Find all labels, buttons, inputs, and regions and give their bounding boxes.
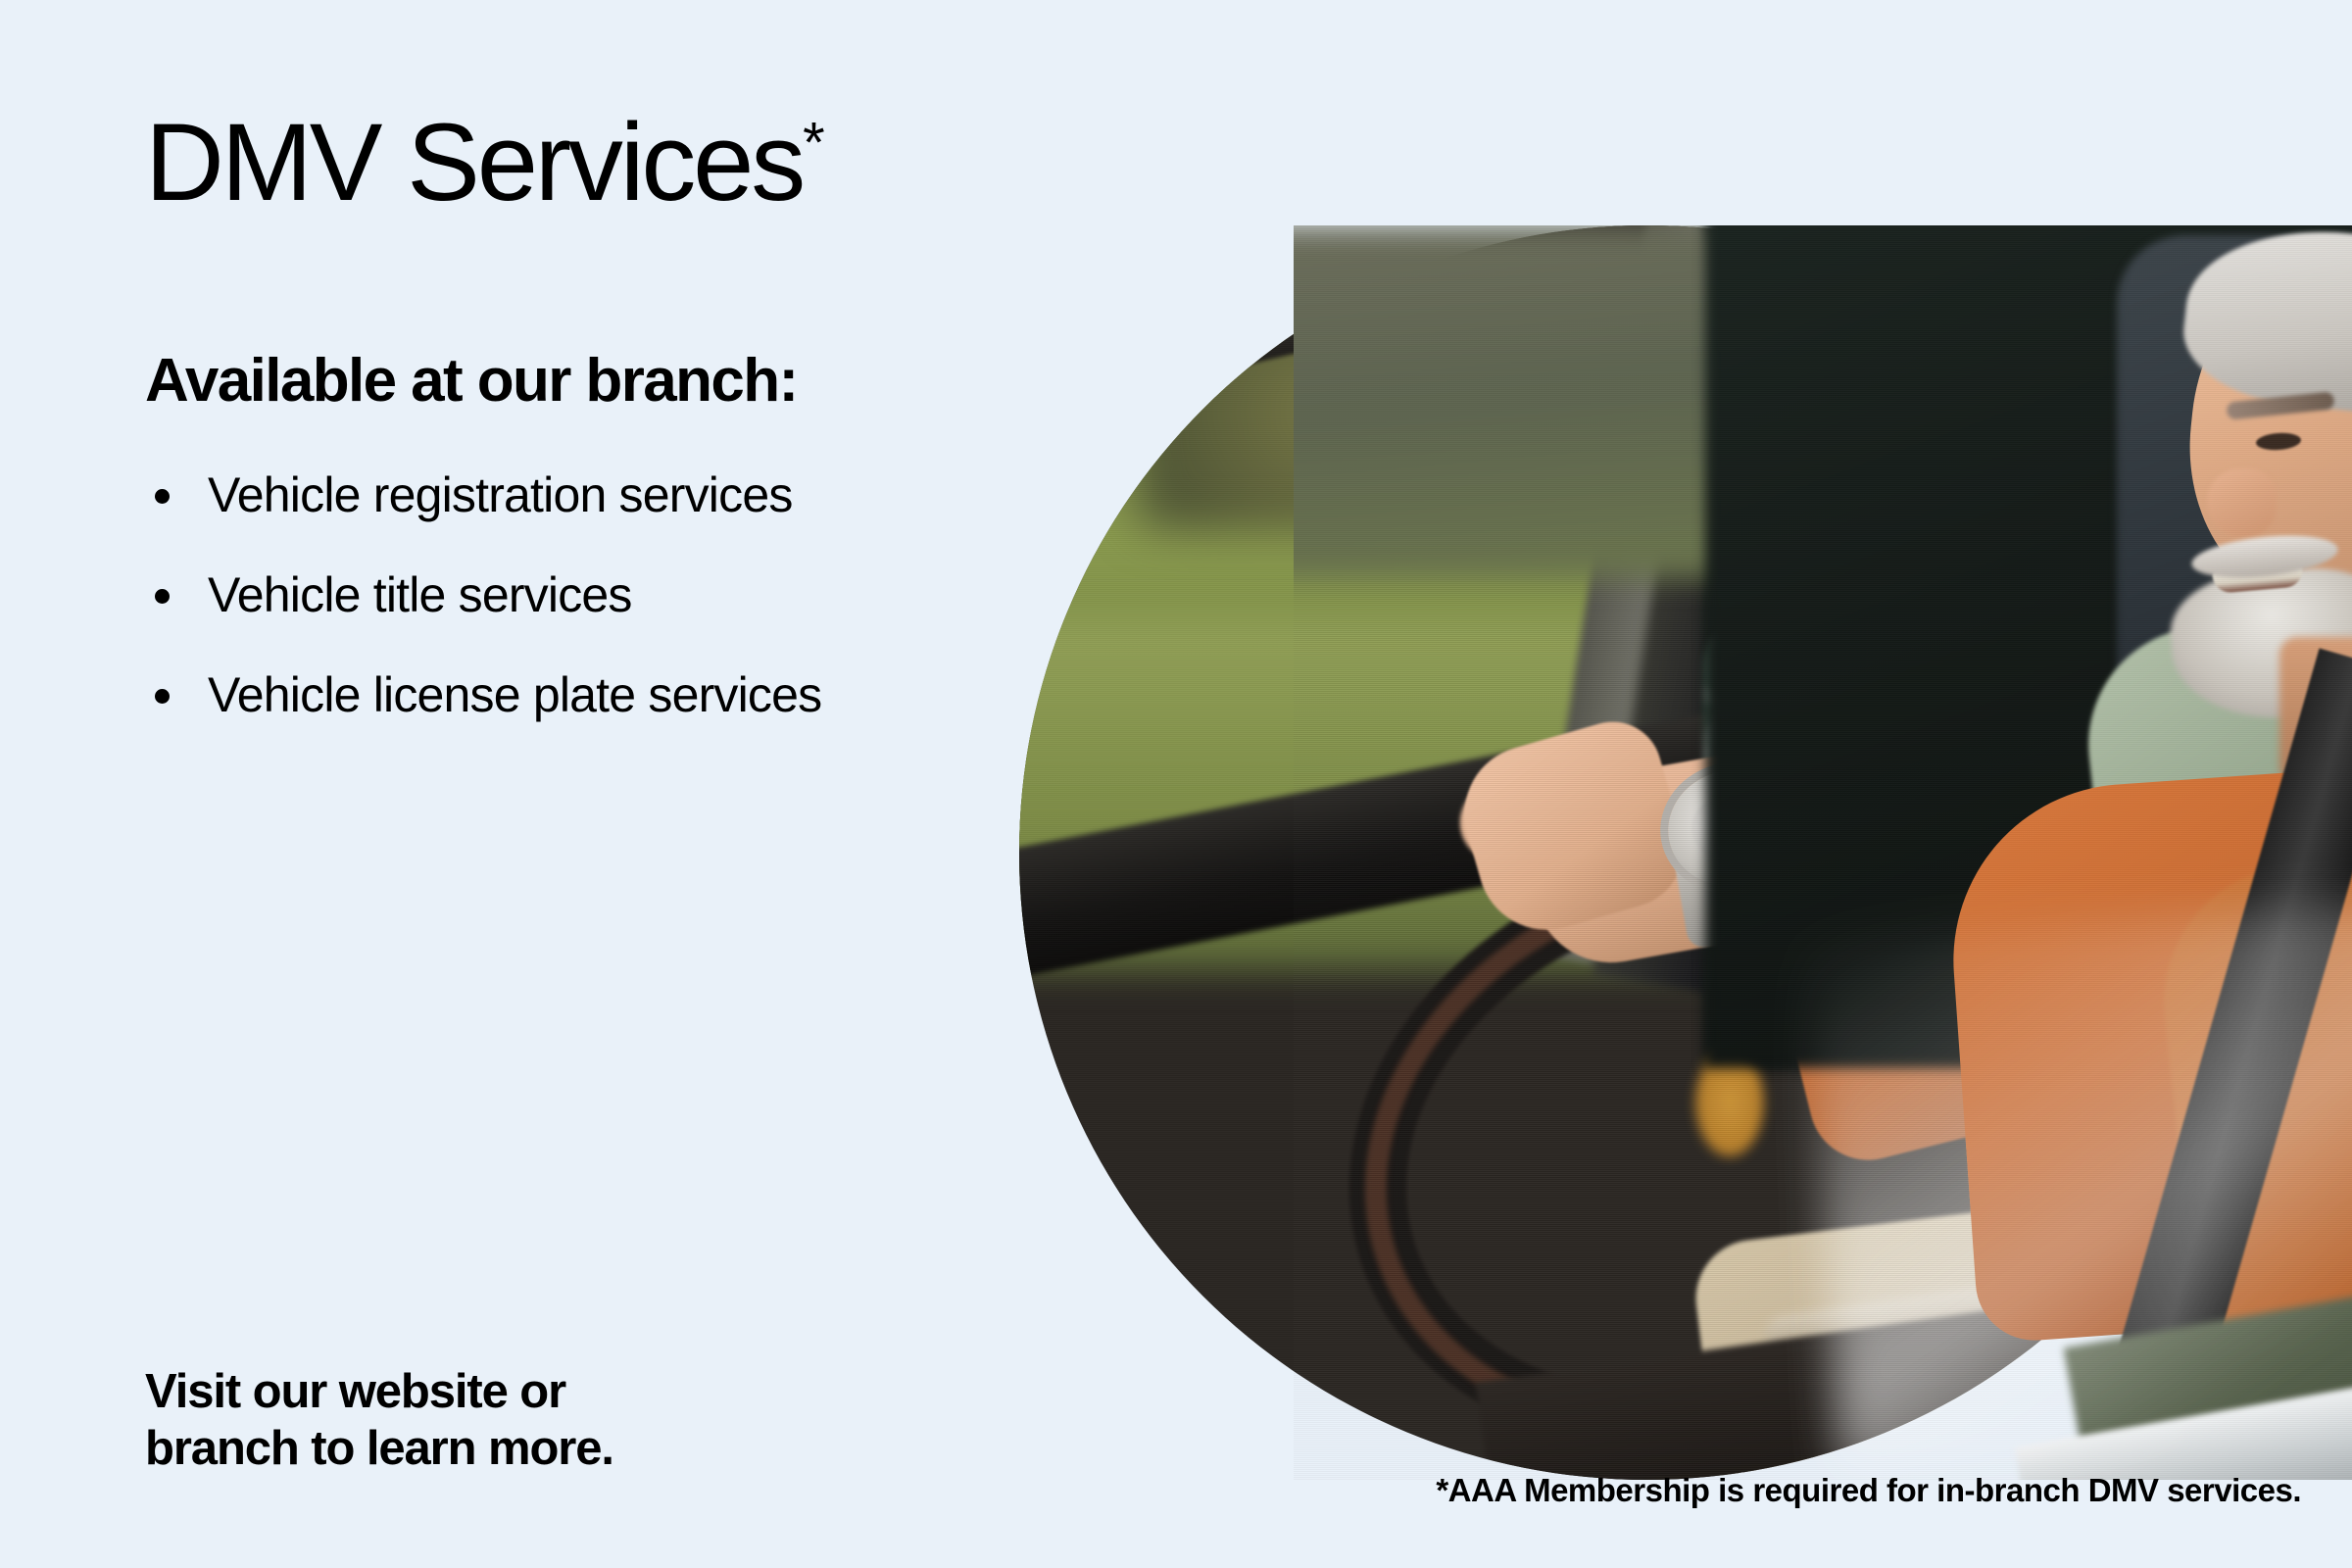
page-title-text: DMV Services xyxy=(145,101,803,223)
bullet-icon xyxy=(155,589,170,604)
list-item: Vehicle registration services xyxy=(145,470,821,519)
bullet-icon xyxy=(155,689,170,704)
hero-photo-bleed xyxy=(1294,225,2352,1480)
page-title-asterisk: * xyxy=(803,112,825,175)
bullet-icon xyxy=(155,489,170,504)
driver-nose-bleed xyxy=(2207,468,2276,537)
list-item-label: Vehicle title services xyxy=(208,567,632,622)
call-to-action: Visit our website or branch to learn mor… xyxy=(145,1364,613,1478)
list-item: Vehicle license plate services xyxy=(145,670,821,719)
disclaimer-text: *AAA Membership is required for in-branc… xyxy=(1436,1472,2301,1509)
page-title: DMV Services* xyxy=(145,108,825,218)
subheading: Available at our branch: xyxy=(145,351,798,412)
cta-line-2: branch to learn more. xyxy=(145,1421,613,1478)
services-list: Vehicle registration services Vehicle ti… xyxy=(145,470,821,770)
list-item-label: Vehicle registration services xyxy=(208,467,793,522)
list-item: Vehicle title services xyxy=(145,570,821,619)
photo-scene-bleed xyxy=(1294,225,2352,1480)
list-item-label: Vehicle license plate services xyxy=(208,667,821,722)
content-column: DMV Services* Available at our branch: V… xyxy=(0,0,1068,1568)
cta-line-1: Visit our website or xyxy=(145,1364,613,1421)
